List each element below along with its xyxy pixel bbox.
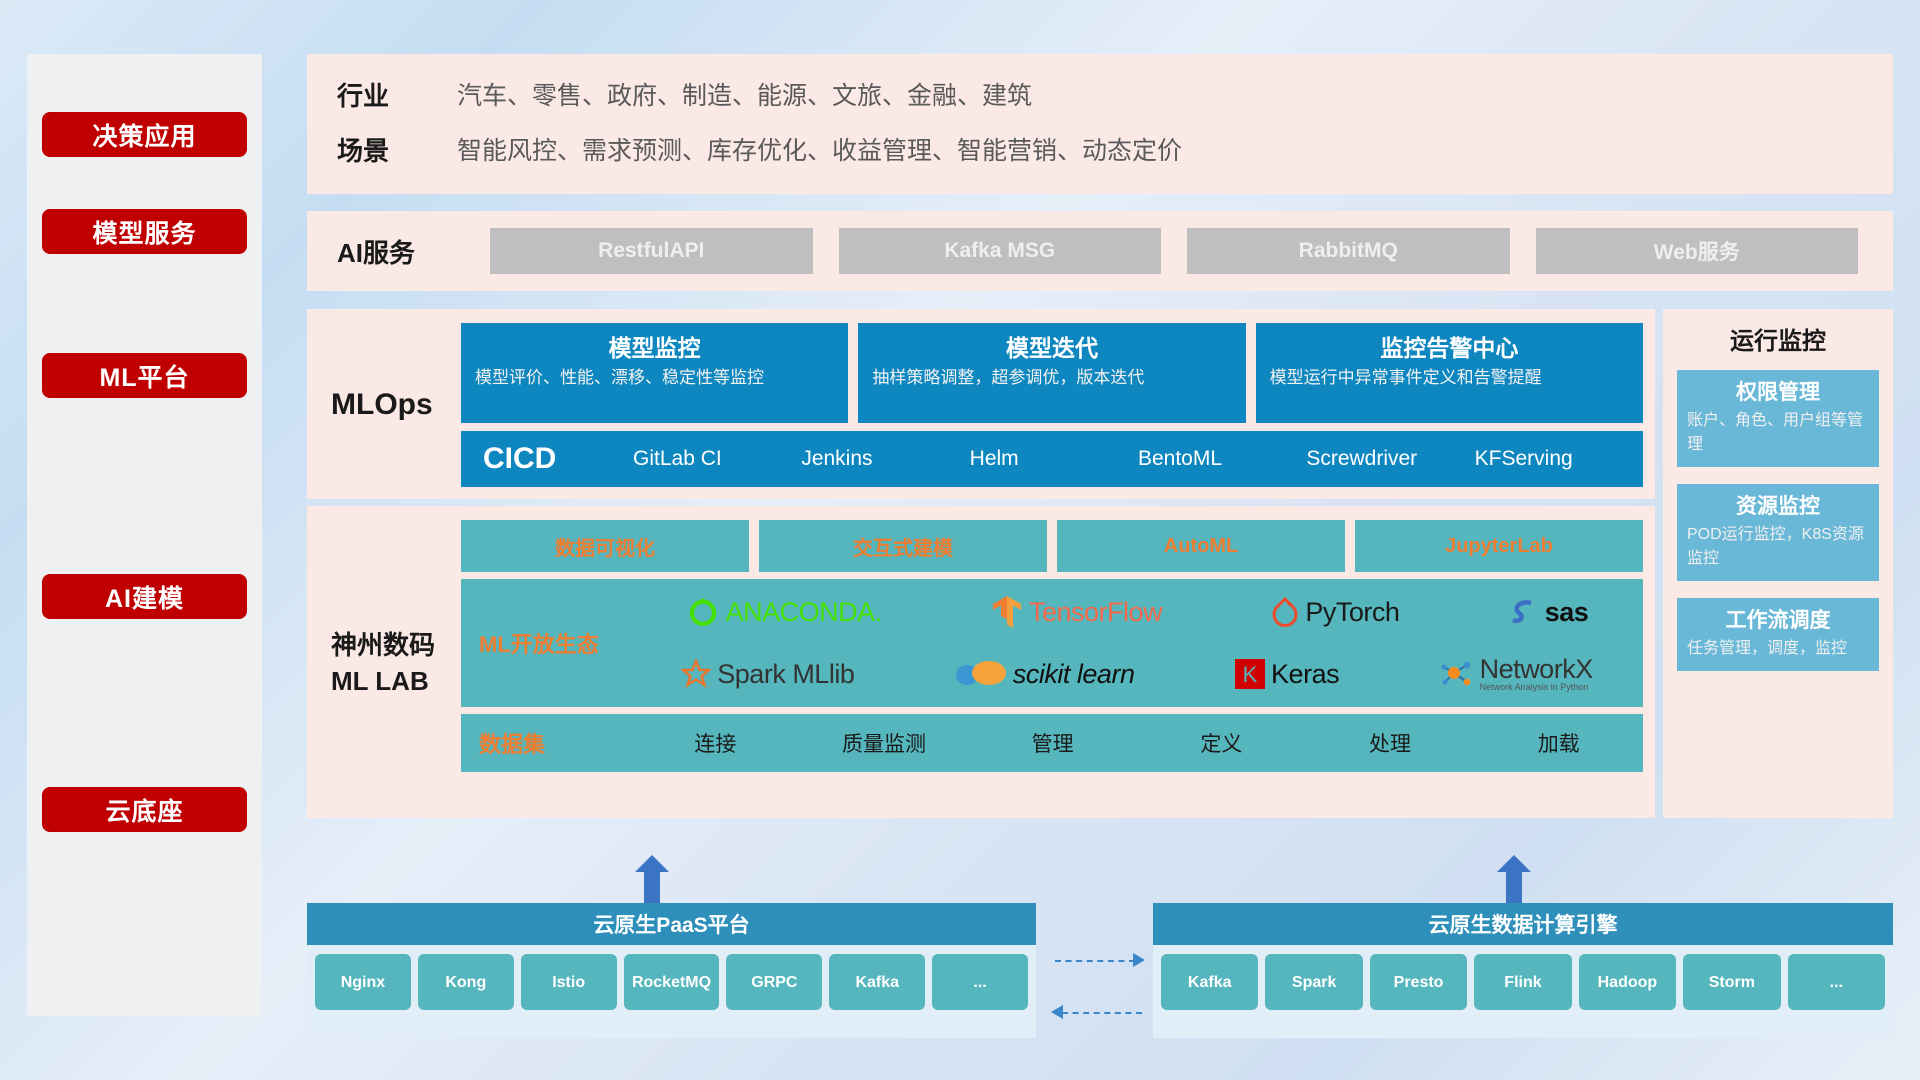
ai-service-band: AI服务 RestfulAPI Kafka MSG RabbitMQ Web服务 — [307, 211, 1893, 291]
ml-lab-tab-row: 数据可视化 交互式建模 AutoML JupyterLab — [461, 520, 1643, 572]
connector-left-arrowhead — [1051, 1005, 1063, 1019]
cloud-chip-grpc[interactable]: GRPC — [726, 954, 822, 1010]
cloud-chip-kong[interactable]: Kong — [418, 954, 514, 1010]
sas-logo: sas — [1509, 597, 1589, 628]
mlops-label: MLOps — [321, 323, 461, 487]
scikit-learn-wordmark: scikit learn — [1013, 659, 1135, 690]
cloud-native-data-engine-title: 云原生数据计算引擎 — [1153, 903, 1893, 945]
scenario-label: 场景 — [337, 124, 457, 179]
ml-lab-label: 神州数码 ML LAB — [321, 520, 461, 806]
rail-item-cloud-base[interactable]: 云底座 — [42, 787, 247, 832]
upward-arrow-data-engine-icon — [1497, 855, 1531, 903]
svg-text:K: K — [1243, 662, 1258, 687]
cloud-native-paas-title: 云原生PaaS平台 — [307, 903, 1036, 945]
tab-data-visualization[interactable]: 数据可视化 — [461, 520, 749, 572]
card-desc: 任务管理，调度，监控 — [1687, 637, 1869, 661]
ai-service-chip-web[interactable]: Web服务 — [1536, 228, 1859, 274]
anaconda-icon — [686, 595, 720, 629]
rail-item-model-service[interactable]: 模型服务 — [42, 209, 247, 254]
tab-interactive-modeling[interactable]: 交互式建模 — [759, 520, 1047, 572]
upward-arrow-paas-icon — [635, 855, 669, 903]
mlops-band: MLOps 模型监控 模型评价、性能、漂移、稳定性等监控 模型迭代 抽样策略调整… — [307, 309, 1655, 499]
tensorflow-logo: TensorFlow — [991, 594, 1162, 630]
stack-layer-rail: 决策应用 模型服务 ML平台 AI建模 云底座 — [27, 54, 262, 1016]
industry-label: 行业 — [337, 69, 457, 124]
sas-wordmark: sas — [1545, 597, 1589, 628]
scikit-learn-logo: scikit learn — [955, 658, 1135, 690]
cicd-item-bentoml[interactable]: BentoML — [1138, 444, 1306, 474]
tab-automl[interactable]: AutoML — [1057, 520, 1345, 572]
engine-chip-more[interactable]: ... — [1788, 954, 1885, 1010]
scikit-learn-icon — [955, 658, 1007, 690]
spark-star-icon — [681, 659, 711, 689]
cicd-item-jenkins[interactable]: Jenkins — [801, 444, 969, 474]
card-desc: 模型评价、性能、漂移、稳定性等监控 — [475, 365, 834, 390]
mlops-content: 模型监控 模型评价、性能、漂移、稳定性等监控 模型迭代 抽样策略调整，超参调优，… — [461, 323, 1643, 487]
runtime-monitoring-title: 运行监控 — [1677, 321, 1879, 356]
engine-chip-flink[interactable]: Flink — [1474, 954, 1571, 1010]
ml-lab-label-line2: ML LAB — [331, 663, 461, 699]
dataset-item-processing[interactable]: 处理 — [1306, 728, 1475, 758]
cloud-chip-more[interactable]: ... — [932, 954, 1028, 1010]
keras-icon: K — [1235, 659, 1265, 689]
engine-chip-storm[interactable]: Storm — [1683, 954, 1780, 1010]
ml-lab-label-line1: 神州数码 — [331, 627, 461, 663]
engine-chip-presto[interactable]: Presto — [1370, 954, 1467, 1010]
cicd-item-helm[interactable]: Helm — [970, 444, 1138, 474]
networkx-logo: NetworkX Network Analysis in Python — [1440, 656, 1593, 692]
cloud-native-paas-panel: 云原生PaaS平台 Nginx Kong Istio RocketMQ GRPC… — [307, 903, 1036, 1038]
spark-mllib-logo: Spark MLlib — [681, 659, 854, 690]
ml-lab-content: 数据可视化 交互式建模 AutoML JupyterLab ML开放生态 — [461, 520, 1643, 806]
connector-right-line — [1055, 960, 1135, 962]
ai-service-label: AI服务 — [337, 233, 477, 270]
monitor-card-workflow-scheduling[interactable]: 工作流调度 任务管理，调度，监控 — [1677, 598, 1879, 671]
dataset-item-connect[interactable]: 连接 — [631, 728, 800, 758]
dataset-bar: 数据集 连接 质量监测 管理 定义 处理 加载 — [461, 714, 1643, 772]
cloud-chip-nginx[interactable]: Nginx — [315, 954, 411, 1010]
rail-item-ai-modeling[interactable]: AI建模 — [42, 574, 247, 619]
connector-left-line — [1062, 1012, 1142, 1014]
ai-modeling-band: 神州数码 ML LAB 数据可视化 交互式建模 AutoML JupyterLa… — [307, 506, 1655, 818]
sas-icon — [1509, 597, 1539, 627]
apps-value-column: 汽车、零售、政府、制造、能源、文旅、金融、建筑 智能风控、需求预测、库存优化、收… — [457, 69, 1182, 179]
pytorch-icon — [1271, 596, 1299, 628]
spark-mllib-wordmark: Spark MLlib — [717, 659, 854, 690]
ecosystem-logo-row-1: ANACONDA. TensorFlow — [631, 583, 1643, 641]
card-title: 监控告警中心 — [1270, 331, 1629, 365]
apps-label-column: 行业 场景 — [337, 69, 457, 179]
industry-value: 汽车、零售、政府、制造、能源、文旅、金融、建筑 — [457, 69, 1182, 124]
cicd-item-kfserving[interactable]: KFServing — [1475, 444, 1643, 474]
cloud-native-paas-items: Nginx Kong Istio RocketMQ GRPC Kafka ... — [307, 945, 1036, 1019]
card-desc: 模型运行中异常事件定义和告警提醒 — [1270, 365, 1629, 390]
cicd-item-gitlab-ci[interactable]: GitLab CI — [633, 444, 801, 474]
cloud-chip-kafka[interactable]: Kafka — [829, 954, 925, 1010]
decision-application-band: 行业 场景 汽车、零售、政府、制造、能源、文旅、金融、建筑 智能风控、需求预测、… — [307, 54, 1893, 194]
tensorflow-wordmark: TensorFlow — [1029, 597, 1162, 628]
tensorflow-icon — [991, 594, 1023, 630]
keras-logo: K Keras — [1235, 659, 1339, 690]
card-title: 工作流调度 — [1687, 605, 1869, 637]
ecosystem-logo-grid: ANACONDA. TensorFlow — [631, 583, 1643, 703]
ml-open-ecosystem-label: ML开放生态 — [479, 627, 631, 659]
ai-service-chip-restfulapi[interactable]: RestfulAPI — [490, 228, 813, 274]
cloud-native-data-engine-items: Kafka Spark Presto Flink Hadoop Storm ..… — [1153, 945, 1893, 1019]
cicd-bar: CICD GitLab CI Jenkins Helm BentoML Scre… — [461, 431, 1643, 487]
cicd-item-screwdriver[interactable]: Screwdriver — [1306, 444, 1474, 474]
networkx-tagline: Network Analysis in Python — [1480, 683, 1593, 692]
ml-open-ecosystem-box: ML开放生态 ANACONDA. — [461, 579, 1643, 707]
dataset-item-definition[interactable]: 定义 — [1137, 728, 1306, 758]
mlops-card-model-monitoring[interactable]: 模型监控 模型评价、性能、漂移、稳定性等监控 — [461, 323, 848, 423]
ai-service-chip-rabbitmq[interactable]: RabbitMQ — [1187, 228, 1510, 274]
card-title: 权限管理 — [1687, 377, 1869, 409]
card-title: 模型监控 — [475, 331, 834, 365]
card-desc: 账户、角色、用户组等管理 — [1687, 409, 1869, 457]
keras-wordmark: Keras — [1271, 659, 1339, 690]
engine-chip-spark[interactable]: Spark — [1265, 954, 1362, 1010]
card-desc: POD运行监控，K8S资源监控 — [1687, 523, 1869, 571]
ecosystem-logo-row-2: Spark MLlib scikit learn — [631, 645, 1643, 703]
cloud-chip-rocketmq[interactable]: RocketMQ — [624, 954, 720, 1010]
card-title: 模型迭代 — [872, 331, 1231, 365]
rail-item-decision-app[interactable]: 决策应用 — [42, 112, 247, 157]
cloud-chip-istio[interactable]: Istio — [521, 954, 617, 1010]
cicd-title: CICD — [483, 442, 633, 476]
scenario-value: 智能风控、需求预测、库存优化、收益管理、智能营销、动态定价 — [457, 124, 1182, 179]
runtime-monitoring-panel: 运行监控 权限管理 账户、角色、用户组等管理 资源监控 POD运行监控，K8S资… — [1663, 309, 1893, 818]
mlops-card-row: 模型监控 模型评价、性能、漂移、稳定性等监控 模型迭代 抽样策略调整，超参调优，… — [461, 323, 1643, 423]
cloud-native-data-engine-panel: 云原生数据计算引擎 Kafka Spark Presto Flink Hadoo… — [1153, 903, 1893, 1038]
monitor-card-resource-monitoring[interactable]: 资源监控 POD运行监控，K8S资源监控 — [1677, 484, 1879, 581]
dataset-title: 数据集 — [479, 727, 631, 759]
dataset-item-management[interactable]: 管理 — [968, 728, 1137, 758]
card-desc: 抽样策略调整，超参调优，版本迭代 — [872, 365, 1231, 390]
connector-right-arrowhead — [1133, 953, 1145, 967]
pytorch-logo: PyTorch — [1271, 596, 1399, 628]
pytorch-wordmark: PyTorch — [1305, 597, 1399, 628]
dataset-item-loading[interactable]: 加载 — [1474, 728, 1643, 758]
engine-chip-kafka[interactable]: Kafka — [1161, 954, 1258, 1010]
dataset-item-quality-monitoring[interactable]: 质量监测 — [800, 728, 969, 758]
monitor-card-permission-management[interactable]: 权限管理 账户、角色、用户组等管理 — [1677, 370, 1879, 467]
ai-service-chip-kafka-msg[interactable]: Kafka MSG — [839, 228, 1162, 274]
networkx-icon — [1440, 658, 1474, 690]
anaconda-wordmark: ANACONDA. — [726, 597, 882, 628]
engine-chip-hadoop[interactable]: Hadoop — [1579, 954, 1676, 1010]
card-title: 资源监控 — [1687, 491, 1869, 523]
networkx-wordmark: NetworkX — [1480, 656, 1593, 683]
tab-jupyterlab[interactable]: JupyterLab — [1355, 520, 1643, 572]
rail-item-ml-platform[interactable]: ML平台 — [42, 353, 247, 398]
mlops-card-alert-center[interactable]: 监控告警中心 模型运行中异常事件定义和告警提醒 — [1256, 323, 1643, 423]
mlops-card-model-iteration[interactable]: 模型迭代 抽样策略调整，超参调优，版本迭代 — [858, 323, 1245, 423]
anaconda-logo: ANACONDA. — [686, 595, 882, 629]
